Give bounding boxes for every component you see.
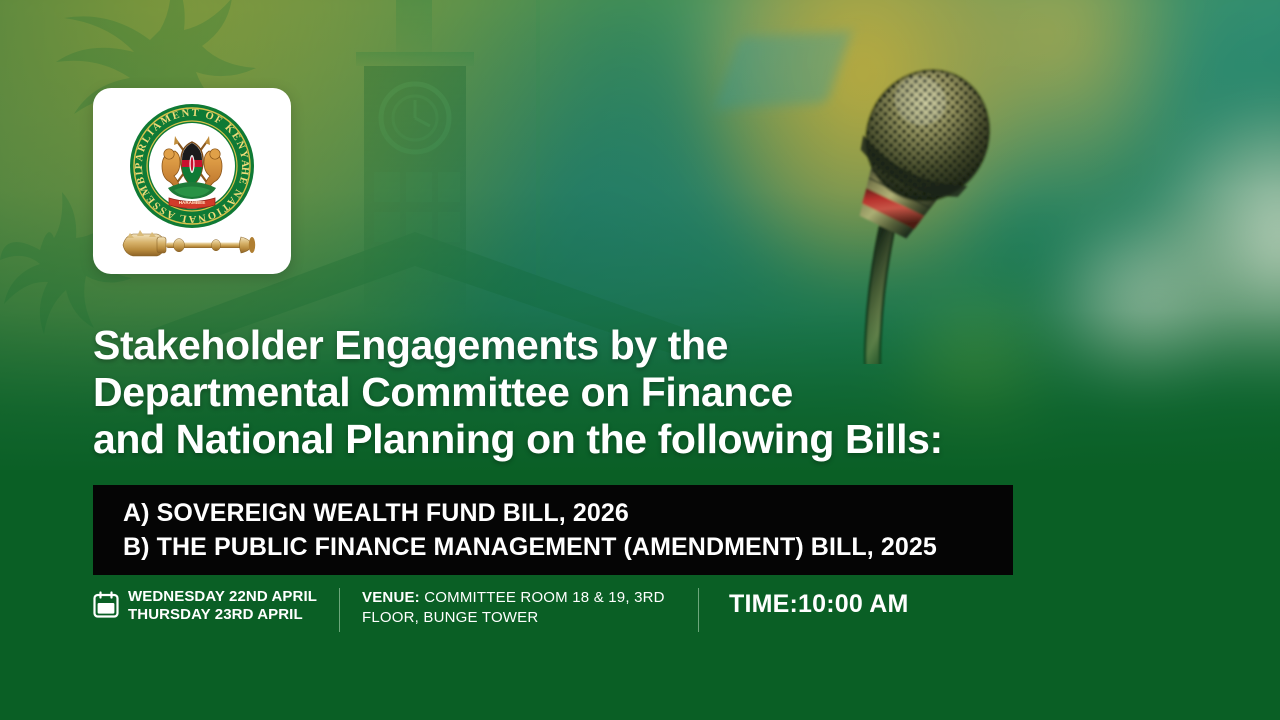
parliament-crest-icon: PARLIAMENT OF KENYA THE NATIONAL ASSEMBL… <box>128 102 256 230</box>
ceremonial-mace-icon <box>117 228 267 262</box>
crest-motto-text: HARAMBEE <box>179 200 206 205</box>
date-line-2: THURSDAY 23RD APRIL <box>128 606 317 624</box>
footer-divider-2 <box>698 588 699 632</box>
venue-label: VENUE: <box>362 589 420 606</box>
date-block: WEDNESDAY 22ND APRIL THURSDAY 23RD APRIL <box>93 588 317 623</box>
event-dates: WEDNESDAY 22ND APRIL THURSDAY 23RD APRIL <box>128 588 317 623</box>
parliament-logo-card: PARLIAMENT OF KENYA THE NATIONAL ASSEMBL… <box>93 88 291 274</box>
event-details-bar: WEDNESDAY 22ND APRIL THURSDAY 23RD APRIL… <box>93 588 1103 640</box>
page-title: Stakeholder Engagements by the Departmen… <box>93 322 1053 463</box>
headline-line-1: Stakeholder Engagements by the <box>93 322 1053 369</box>
headline-line-2: Departmental Committee on Finance <box>93 369 1053 416</box>
bill-item-a: A) SOVEREIGN WEALTH FUND BILL, 2026 <box>123 496 1013 530</box>
poster-canvas: PARLIAMENT OF KENYA THE NATIONAL ASSEMBL… <box>0 0 1280 720</box>
headline-line-3: and National Planning on the following B… <box>93 416 1053 463</box>
footer-divider-1 <box>339 588 340 632</box>
calendar-icon <box>93 591 119 618</box>
bills-list-panel: A) SOVEREIGN WEALTH FUND BILL, 2026 B) T… <box>93 485 1013 575</box>
venue-block: VENUE: COMMITTEE ROOM 18 & 19, 3RD FLOOR… <box>362 588 672 628</box>
bill-item-b: B) THE PUBLIC FINANCE MANAGEMENT (AMENDM… <box>123 530 1013 564</box>
microphone-icon <box>760 24 1090 364</box>
event-time: TIME:10:00 AM <box>729 590 908 619</box>
date-line-1: WEDNESDAY 22ND APRIL <box>128 588 317 606</box>
